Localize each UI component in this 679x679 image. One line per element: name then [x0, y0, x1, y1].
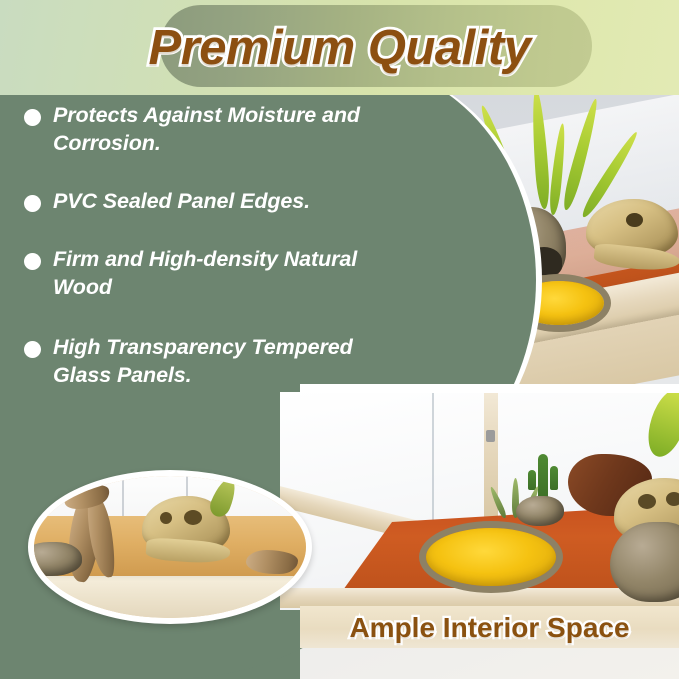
feature-item-1: Protects Against Moisture and Corrosion.	[24, 102, 384, 158]
bullet-dot-icon	[24, 109, 41, 126]
hinge-icon	[486, 430, 495, 442]
photo-bottom-right	[280, 392, 679, 610]
bullet-dot-icon	[24, 341, 41, 358]
photo-top-right	[336, 95, 679, 387]
bullet-dot-icon	[24, 253, 41, 270]
feature-item-4: High Transparency Tempered Glass Panels.	[24, 334, 384, 390]
glass-seam	[432, 392, 434, 540]
photo-bottom-left-oval	[28, 470, 312, 624]
skull-nasal-opening	[160, 512, 172, 524]
feature-label: Protects Against Moisture and Corrosion.	[53, 102, 384, 158]
water-dish-interior	[426, 528, 556, 586]
page-title: Premium Quality	[0, 0, 679, 95]
skull-eye-socket-oval	[184, 510, 202, 525]
feature-list: Protects Against Moisture and Corrosion.…	[24, 102, 384, 416]
feature-item-3: Firm and High-density Natural Wood	[24, 246, 384, 302]
infographic-canvas: Premium Quality Protects Against Moistur…	[0, 0, 679, 679]
bullet-dot-icon	[24, 195, 41, 212]
wood-base-oval	[34, 576, 306, 622]
skull-eye-socket-large-2	[666, 492, 679, 506]
feature-label: Firm and High-density Natural Wood	[53, 246, 384, 302]
wood-chunk-right	[246, 550, 298, 574]
caption-label: Ample Interior Space	[300, 598, 679, 658]
rock-oval-left	[28, 542, 82, 576]
skull-eye-socket	[626, 213, 643, 227]
feature-label: PVC Sealed Panel Edges.	[53, 188, 310, 216]
rock-small-left	[516, 496, 564, 526]
feature-label: High Transparency Tempered Glass Panels.	[53, 334, 384, 390]
feature-item-2: PVC Sealed Panel Edges.	[24, 188, 384, 216]
skull-eye-socket-large	[638, 494, 656, 509]
